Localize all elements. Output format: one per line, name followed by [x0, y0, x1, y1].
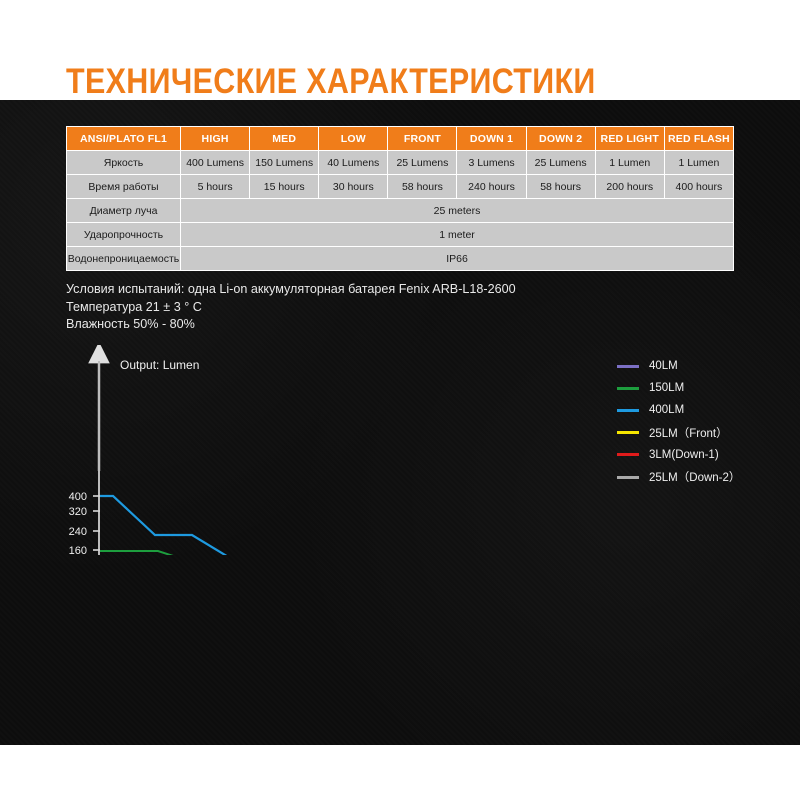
table-cell: 40 Lumens — [319, 151, 388, 175]
row-label: Водонепроницаемость — [67, 247, 181, 271]
table-header-cell: FRONT — [388, 127, 457, 151]
table-header-cell: DOWN 2 — [526, 127, 595, 151]
table-cell: 5 hours — [181, 175, 250, 199]
legend-label: 25LM（Front） — [649, 425, 728, 441]
test-conditions-note: Условия испытаний: одна Li-on аккумулято… — [66, 281, 516, 334]
row-label: Время работы — [67, 175, 181, 199]
legend-item: 25LM（Down-2） — [617, 466, 740, 488]
table-cell: 400 Lumens — [181, 151, 250, 175]
table-cell-merged: 25 meters — [181, 199, 734, 223]
y-tick-label: 320 — [69, 506, 87, 518]
legend-item: 3LM(Down-1) — [617, 444, 740, 466]
legend-label: 400LM — [649, 404, 684, 416]
legend-label: 40LM — [649, 360, 678, 372]
y-axis-label: Output: Lumen — [120, 358, 199, 372]
table-row: Яркость 400 Lumens 150 Lumens 40 Lumens … — [67, 151, 734, 175]
table-cell: 15 hours — [250, 175, 319, 199]
table-row: Водонепроницаемость IP66 — [67, 247, 734, 271]
table-cell: 200 hours — [595, 175, 664, 199]
legend-swatch-icon — [617, 365, 639, 368]
table-row: Ударопрочность 1 meter — [67, 223, 734, 247]
table-cell: 240 hours — [457, 175, 526, 199]
series-line-150lm — [100, 551, 357, 555]
series-line-400lm — [100, 496, 295, 555]
table-header-cell: DOWN 1 — [457, 127, 526, 151]
table-header-row: ANSI/PLATO FL1 HIGH MED LOW FRONT DOWN 1… — [67, 127, 734, 151]
chart-legend: 40LM 150LM 400LM 25LM（Front） 3LM(Down-1)… — [617, 355, 740, 488]
table-header-cell: LOW — [319, 127, 388, 151]
table-row: Время работы 5 hours 15 hours 30 hours 5… — [67, 175, 734, 199]
table-cell: 25 Lumens — [388, 151, 457, 175]
page-title: ТЕХНИЧЕСКИЕ ХАРАКТЕРИСТИКИ — [66, 62, 596, 102]
table-cell: 1 Lumen — [664, 151, 733, 175]
y-tick-label: 400 — [69, 491, 87, 503]
legend-swatch-icon — [617, 453, 639, 456]
slide: ТЕХНИЧЕСКИЕ ХАРАКТЕРИСТИКИ ANSI/PLATO FL… — [0, 0, 800, 800]
table-header-cell: ANSI/PLATO FL1 — [67, 127, 181, 151]
legend-label: 150LM — [649, 382, 684, 394]
table-cell: 1 Lumen — [595, 151, 664, 175]
table-header-cell: RED FLASH — [664, 127, 733, 151]
row-label: Яркость — [67, 151, 181, 175]
table-header-cell: HIGH — [181, 127, 250, 151]
y-tick-label: 160 — [69, 545, 87, 555]
table-cell-merged: IP66 — [181, 247, 734, 271]
specifications-table: ANSI/PLATO FL1 HIGH MED LOW FRONT DOWN 1… — [66, 126, 734, 271]
table-cell: 30 hours — [319, 175, 388, 199]
legend-label: 25LM（Down-2） — [649, 469, 740, 485]
legend-swatch-icon — [617, 409, 639, 412]
legend-item: 150LM — [617, 377, 740, 399]
row-label: Диаметр луча — [67, 199, 181, 223]
legend-swatch-icon — [617, 431, 639, 434]
table-header-cell: MED — [250, 127, 319, 151]
legend-swatch-icon — [617, 476, 639, 479]
legend-label: 3LM(Down-1) — [649, 449, 719, 461]
legend-item: 400LM — [617, 399, 740, 421]
row-label: Ударопрочность — [67, 223, 181, 247]
legend-item: 25LM（Front） — [617, 422, 740, 444]
table-header-cell: RED LIGHT — [595, 127, 664, 151]
table-cell: 58 hours — [388, 175, 457, 199]
y-tick-labels: 400 320 240 160 80 40 — [69, 491, 87, 555]
table-cell: 3 Lumens — [457, 151, 526, 175]
table-cell-merged: 1 meter — [181, 223, 734, 247]
table-row: Диаметр луча 25 meters — [67, 199, 734, 223]
table-cell: 25 Lumens — [526, 151, 595, 175]
legend-item: 40LM — [617, 355, 740, 377]
table-cell: 150 Lumens — [250, 151, 319, 175]
y-tick-label: 240 — [69, 526, 87, 538]
table-cell: 400 hours — [664, 175, 733, 199]
table-cell: 58 hours — [526, 175, 595, 199]
legend-swatch-icon — [617, 387, 639, 390]
